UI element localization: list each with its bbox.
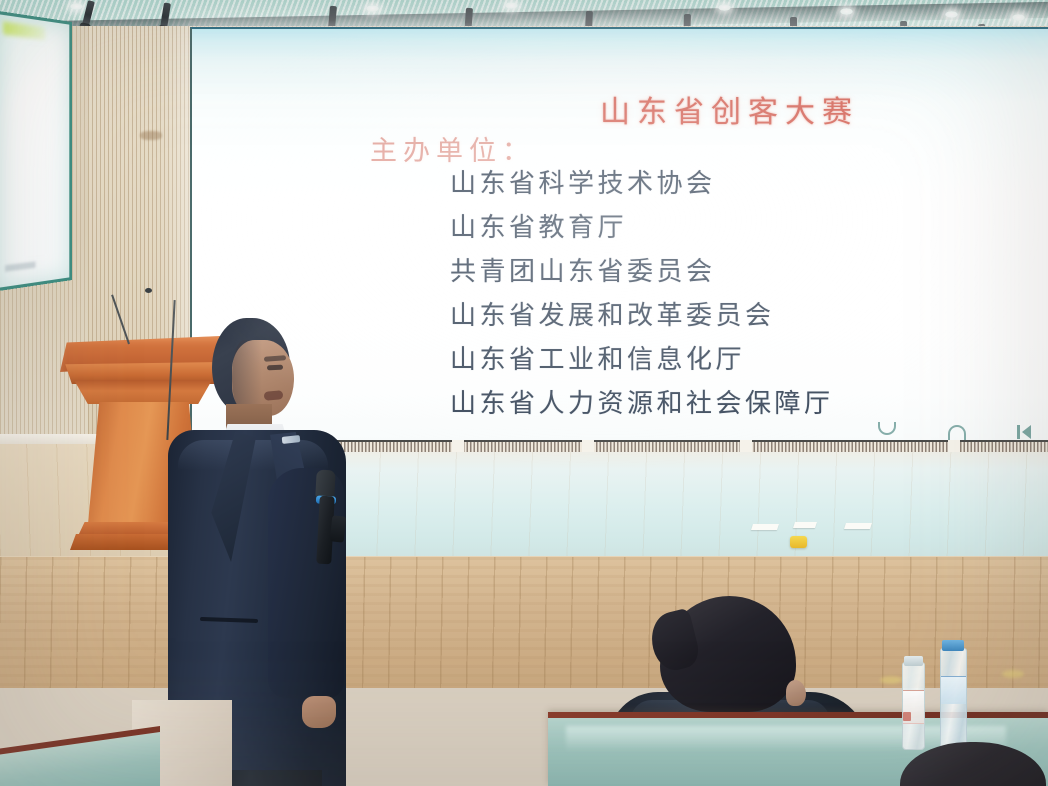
- list-item: 山东省人力资源和社会保障厅: [450, 382, 834, 426]
- organizer-list: 山东省科学技术协会 山东省教育厅 共青团山东省委员会 山东省发展和改革委员会 山…: [450, 162, 834, 426]
- display-smudge: [5, 261, 35, 271]
- presenter-face-shadow: [232, 340, 262, 414]
- slide-title: 山东省创客大赛: [600, 87, 859, 131]
- trim-gap: [452, 440, 464, 452]
- paper-slip: [844, 523, 872, 529]
- ceiling-light: [945, 11, 958, 18]
- trim-gap: [582, 440, 594, 452]
- trim-gap: [948, 440, 960, 452]
- ceiling-light: [718, 4, 731, 11]
- list-item: 山东省科学技术协会: [450, 162, 834, 206]
- gooseneck-microphone-icon: [145, 288, 152, 293]
- floor-light-reflection: [1002, 670, 1024, 678]
- water-bottle-blue-label: [941, 676, 966, 704]
- paper-slip: [751, 524, 779, 530]
- auditorium-scene: 山东省创客大赛 主办单位： 山东省科学技术协会 山东省教育厅 共青团山东省委员会…: [0, 0, 1048, 786]
- stage-front-panel: [0, 556, 1048, 688]
- secondary-display[interactable]: [0, 11, 72, 292]
- ceiling-light: [366, 5, 379, 12]
- paper-slip: [793, 522, 817, 528]
- ceiling-light: [840, 8, 853, 15]
- ceiling-light: [505, 2, 518, 9]
- presenter-hand: [302, 696, 336, 728]
- audience-desk-left: [0, 726, 160, 786]
- list-item: 山东省工业和信息化厅: [450, 338, 834, 382]
- water-bottle-white-label-mark: [903, 712, 911, 721]
- water-bottle-white-cap: [904, 656, 923, 666]
- list-item: 山东省发展和改革委员会: [450, 294, 834, 338]
- presenter-remote: [330, 515, 347, 542]
- list-item: 共青团山东省委员会: [450, 250, 834, 294]
- audience-member-ear: [786, 680, 806, 706]
- ceiling-light: [70, 3, 83, 10]
- floor-light-reflection: [880, 676, 902, 684]
- list-item: 山东省教育厅: [450, 206, 834, 250]
- ceiling-light: [1012, 14, 1025, 21]
- display-highlight-mark: [3, 21, 45, 39]
- wall-mark: [140, 131, 162, 140]
- handheld-microphone-head: [315, 470, 335, 499]
- presenter-eye: [267, 365, 283, 371]
- water-bottle-blue-cap: [942, 640, 964, 651]
- yellow-object: [790, 536, 807, 548]
- trim-gap: [740, 440, 752, 452]
- audience-member-corner: [900, 742, 1048, 786]
- audience-member-corner-hair: [900, 742, 1046, 786]
